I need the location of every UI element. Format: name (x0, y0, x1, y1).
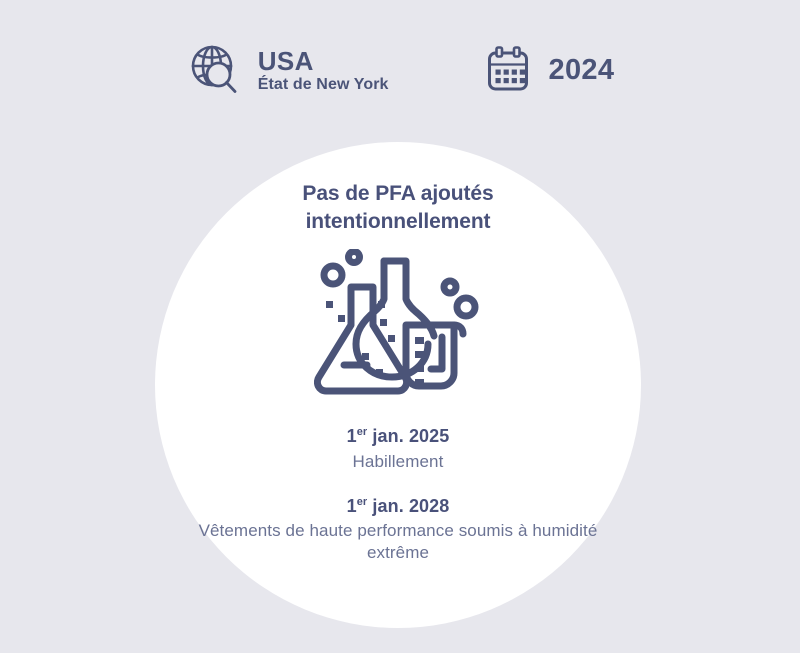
lab-flasks-beaker-icon (314, 249, 482, 409)
milestone-date-rest: jan. 2025 (367, 426, 449, 446)
milestone-date: 1er jan. 2025 (347, 425, 450, 448)
milestone-list: 1er jan. 2025 Habillement 1er jan. 2028 … (198, 425, 598, 563)
date-block: 2024 (481, 43, 615, 97)
milestone-date-ordinal: er (357, 426, 368, 438)
milestone-date-ordinal: er (357, 496, 368, 508)
year-label: 2024 (549, 54, 615, 87)
info-circle-card: Pas de PFA ajoutés intentionnellement (155, 142, 641, 628)
location-block: USA État de New York (186, 41, 389, 99)
milestone-item: 1er jan. 2025 Habillement (347, 425, 450, 472)
milestone-description: Vêtements de haute performance soumis à … (198, 520, 598, 564)
country-name: USA (258, 48, 389, 74)
milestone-date-number: 1 (347, 496, 357, 516)
header-bar: USA État de New York (0, 0, 800, 140)
milestone-date: 1er jan. 2028 (198, 495, 598, 518)
globe-magnifier-icon (186, 41, 244, 99)
page-title: Pas de PFA ajoutés intentionnellement (233, 180, 563, 235)
milestone-description: Habillement (347, 451, 450, 473)
region-name: État de New York (258, 77, 389, 93)
location-text: USA État de New York (258, 48, 389, 93)
calendar-icon (481, 43, 535, 97)
milestone-item: 1er jan. 2028 Vêtements de haute perform… (198, 495, 598, 564)
milestone-date-number: 1 (347, 426, 357, 446)
milestone-date-rest: jan. 2028 (367, 496, 449, 516)
